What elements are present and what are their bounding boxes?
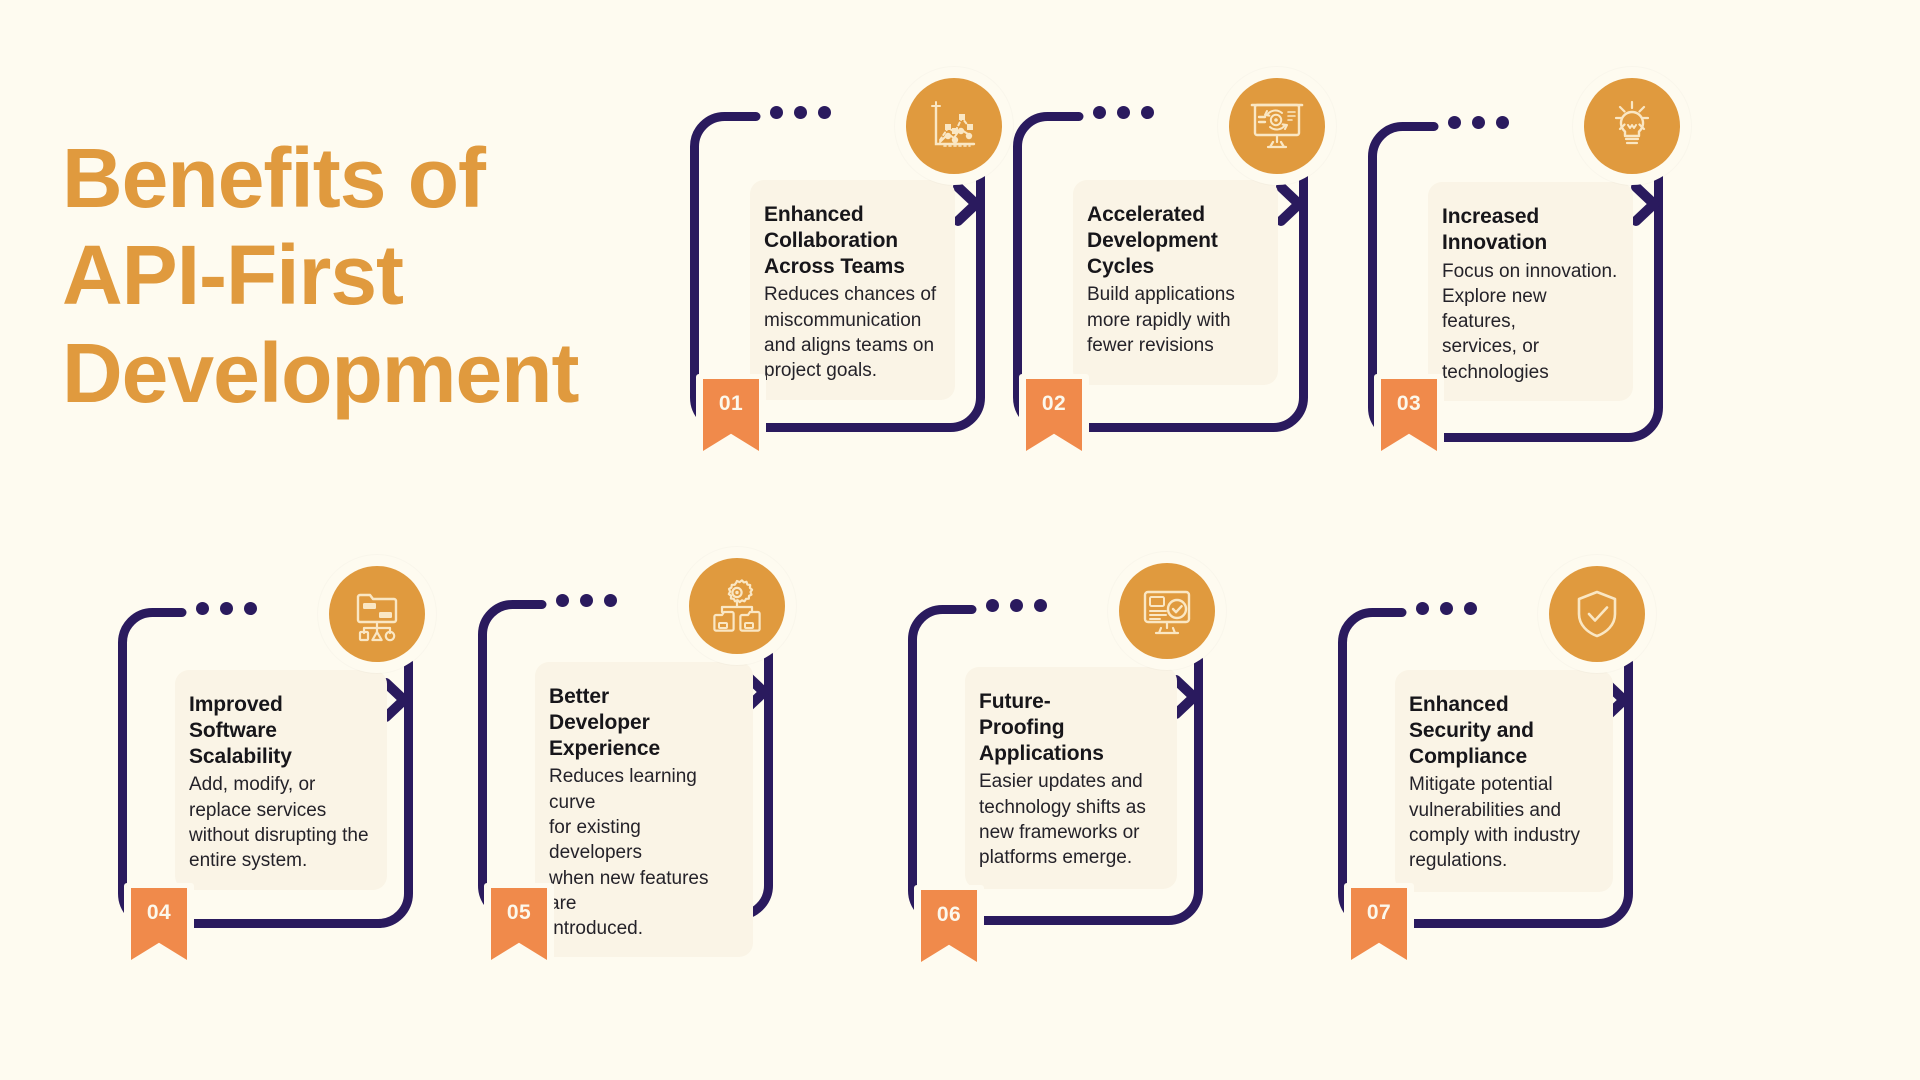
arrow-right-icon — [958, 187, 976, 221]
card-number-label: 06 — [937, 903, 961, 927]
card-description: Reduces chances of miscommunication and … — [764, 282, 941, 383]
three-dots-decoration — [556, 594, 617, 607]
card-description: Mitigate potential vulnerabilities and c… — [1409, 772, 1599, 873]
card-icon-bubble — [678, 547, 796, 665]
card-number-label: 02 — [1042, 392, 1066, 416]
card-title: Enhanced Collaboration Across Teams — [764, 202, 941, 279]
three-dots-decoration — [1093, 106, 1154, 119]
lightbulb-icon — [1584, 78, 1680, 174]
benefit-card: Improved Software ScalabilityAdd, modify… — [118, 608, 413, 928]
infographic-canvas: Benefits of API-First Development Enhanc… — [0, 0, 1920, 1080]
card-number-label: 04 — [147, 901, 171, 925]
card-description: Build applications more rapidly with few… — [1087, 282, 1264, 358]
gear-folders-icon — [689, 558, 785, 654]
card-icon-bubble — [318, 555, 436, 673]
page-title: Benefits of API-First Development — [62, 130, 662, 422]
three-dots-decoration — [770, 106, 831, 119]
arrow-right-icon — [386, 683, 404, 717]
benefit-card: Better Developer ExperienceReduces learn… — [478, 600, 773, 920]
card-number-label: 07 — [1367, 901, 1391, 925]
card-panel: Enhanced Collaboration Across TeamsReduc… — [750, 180, 955, 400]
card-description: Reduces learning curve for existing deve… — [549, 764, 739, 941]
card-title: Accelerated Development Cycles — [1087, 202, 1264, 279]
card-number-label: 01 — [719, 392, 743, 416]
card-description: Focus on innovation. Explore new feature… — [1442, 259, 1619, 385]
scatter-chart-icon — [906, 78, 1002, 174]
benefit-card: Future- Proofing ApplicationsEasier upda… — [908, 605, 1203, 925]
three-dots-decoration — [1416, 602, 1477, 615]
card-description: Add, modify, or replace services without… — [189, 772, 373, 873]
arrow-right-icon — [1176, 680, 1194, 714]
arrow-right-icon — [1281, 187, 1299, 221]
three-dots-decoration — [196, 602, 257, 615]
monitor-gear-cycle-icon — [1229, 78, 1325, 174]
card-panel: Accelerated Development CyclesBuild appl… — [1073, 180, 1278, 385]
three-dots-decoration — [1448, 116, 1509, 129]
card-panel: Future- Proofing ApplicationsEasier upda… — [965, 667, 1177, 889]
benefit-card: Enhanced Collaboration Across TeamsReduc… — [690, 112, 985, 432]
monitor-check-icon — [1119, 563, 1215, 659]
card-icon-bubble — [1538, 555, 1656, 673]
card-panel: Better Developer ExperienceReduces learn… — [535, 662, 753, 957]
folder-hierarchy-icon — [329, 566, 425, 662]
shield-check-icon — [1549, 566, 1645, 662]
card-description: Easier updates and technology shifts as … — [979, 769, 1163, 870]
benefit-card: Enhanced Security and ComplianceMitigate… — [1338, 608, 1633, 928]
card-title: Future- Proofing Applications — [979, 689, 1163, 766]
benefit-card: Accelerated Development CyclesBuild appl… — [1013, 112, 1308, 432]
card-number-label: 05 — [507, 901, 531, 925]
benefit-card: Increased InnovationFocus on innovation.… — [1368, 122, 1663, 442]
card-title: Enhanced Security and Compliance — [1409, 692, 1599, 769]
card-panel: Improved Software ScalabilityAdd, modify… — [175, 670, 387, 890]
card-title: Improved Software Scalability — [189, 692, 373, 769]
card-panel: Enhanced Security and ComplianceMitigate… — [1395, 670, 1613, 892]
card-title: Increased Innovation — [1442, 204, 1619, 256]
three-dots-decoration — [986, 599, 1047, 612]
card-panel: Increased InnovationFocus on innovation.… — [1428, 182, 1633, 401]
card-icon-bubble — [1108, 552, 1226, 670]
card-icon-bubble — [1218, 67, 1336, 185]
arrow-right-icon — [1636, 187, 1654, 221]
card-number-label: 03 — [1397, 392, 1421, 416]
card-title: Better Developer Experience — [549, 684, 739, 761]
card-icon-bubble — [895, 67, 1013, 185]
card-icon-bubble — [1573, 67, 1691, 185]
